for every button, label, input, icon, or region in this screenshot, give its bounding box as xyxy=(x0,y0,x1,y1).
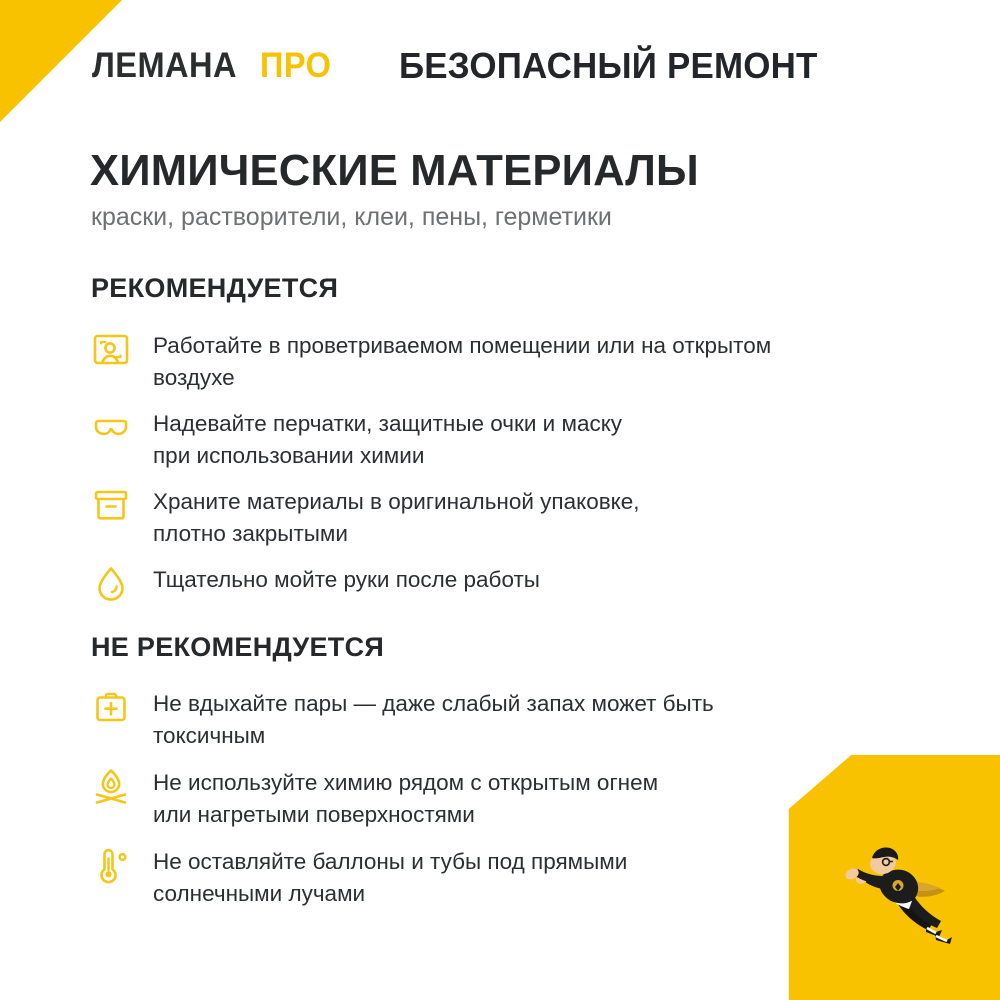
poster-header: ЛЕМАНА ПРО БЕЗОПАСНЫЙ РЕМОНТ xyxy=(92,42,940,90)
recommended-list: Работайте в проветриваемом помещении или… xyxy=(91,328,911,620)
first-aid-kit-icon xyxy=(91,686,153,744)
list-item-label: Надевайте перчатки, защитные очки и маск… xyxy=(153,406,911,472)
infographic-poster: ЛЕМАНА ПРО БЕЗОПАСНЫЙ РЕМОНТ ХИМИЧЕСКИЕ … xyxy=(0,0,1000,1000)
section-heading-not-recommended: НЕ РЕКОМЕНДУЕТСЯ xyxy=(91,632,384,663)
not-recommended-list: Не вдыхайте пары — даже слабый запах мож… xyxy=(91,686,911,910)
list-item: Не вдыхайте пары — даже слабый запах мож… xyxy=(91,686,911,752)
ventilated-room-icon xyxy=(91,328,153,386)
water-drop-icon xyxy=(91,562,153,620)
list-item-label: Тщательно мойте руки после работы xyxy=(153,562,911,596)
thermometer-sun-icon xyxy=(91,844,153,902)
campfire-flame-icon xyxy=(91,765,153,823)
list-item: Храните материалы в оригинальной упаковк… xyxy=(91,484,911,550)
list-item-label: Не вдыхайте пары — даже слабый запах мож… xyxy=(153,686,911,752)
list-item: Тщательно мойте руки после работы xyxy=(91,562,911,620)
page-subtitle: краски, растворители, клеи, пены, гермет… xyxy=(91,203,612,232)
list-item: Работайте в проветриваемом помещении или… xyxy=(91,328,911,394)
list-item: Надевайте перчатки, защитные очки и маск… xyxy=(91,406,911,472)
logo-word-pro: ПРО xyxy=(260,46,331,86)
page-title: ХИМИЧЕСКИЕ МАТЕРИАЛЫ xyxy=(90,146,699,196)
lemana-pro-logo: ЛЕМАНА ПРО xyxy=(92,46,337,86)
logo-word-lemana: ЛЕМАНА xyxy=(92,46,237,86)
list-item: Не оставляйте баллоны и тубы под прямыми… xyxy=(91,844,911,910)
flying-superhero-mascot xyxy=(828,838,978,956)
safety-goggles-icon xyxy=(91,406,153,464)
list-item-label: Работайте в проветриваемом помещении или… xyxy=(153,328,911,394)
storage-box-icon xyxy=(91,484,153,542)
list-item: Не используйте химию рядом с открытым ог… xyxy=(91,765,911,831)
list-item-label: Храните материалы в оригинальной упаковк… xyxy=(153,484,911,550)
list-item-label: Не оставляйте баллоны и тубы под прямыми… xyxy=(153,844,911,910)
list-item-label: Не используйте химию рядом с открытым ог… xyxy=(153,765,911,831)
header-title: БЕЗОПАСНЫЙ РЕМОНТ xyxy=(399,45,818,87)
section-heading-recommended: РЕКОМЕНДУЕТСЯ xyxy=(91,273,338,304)
